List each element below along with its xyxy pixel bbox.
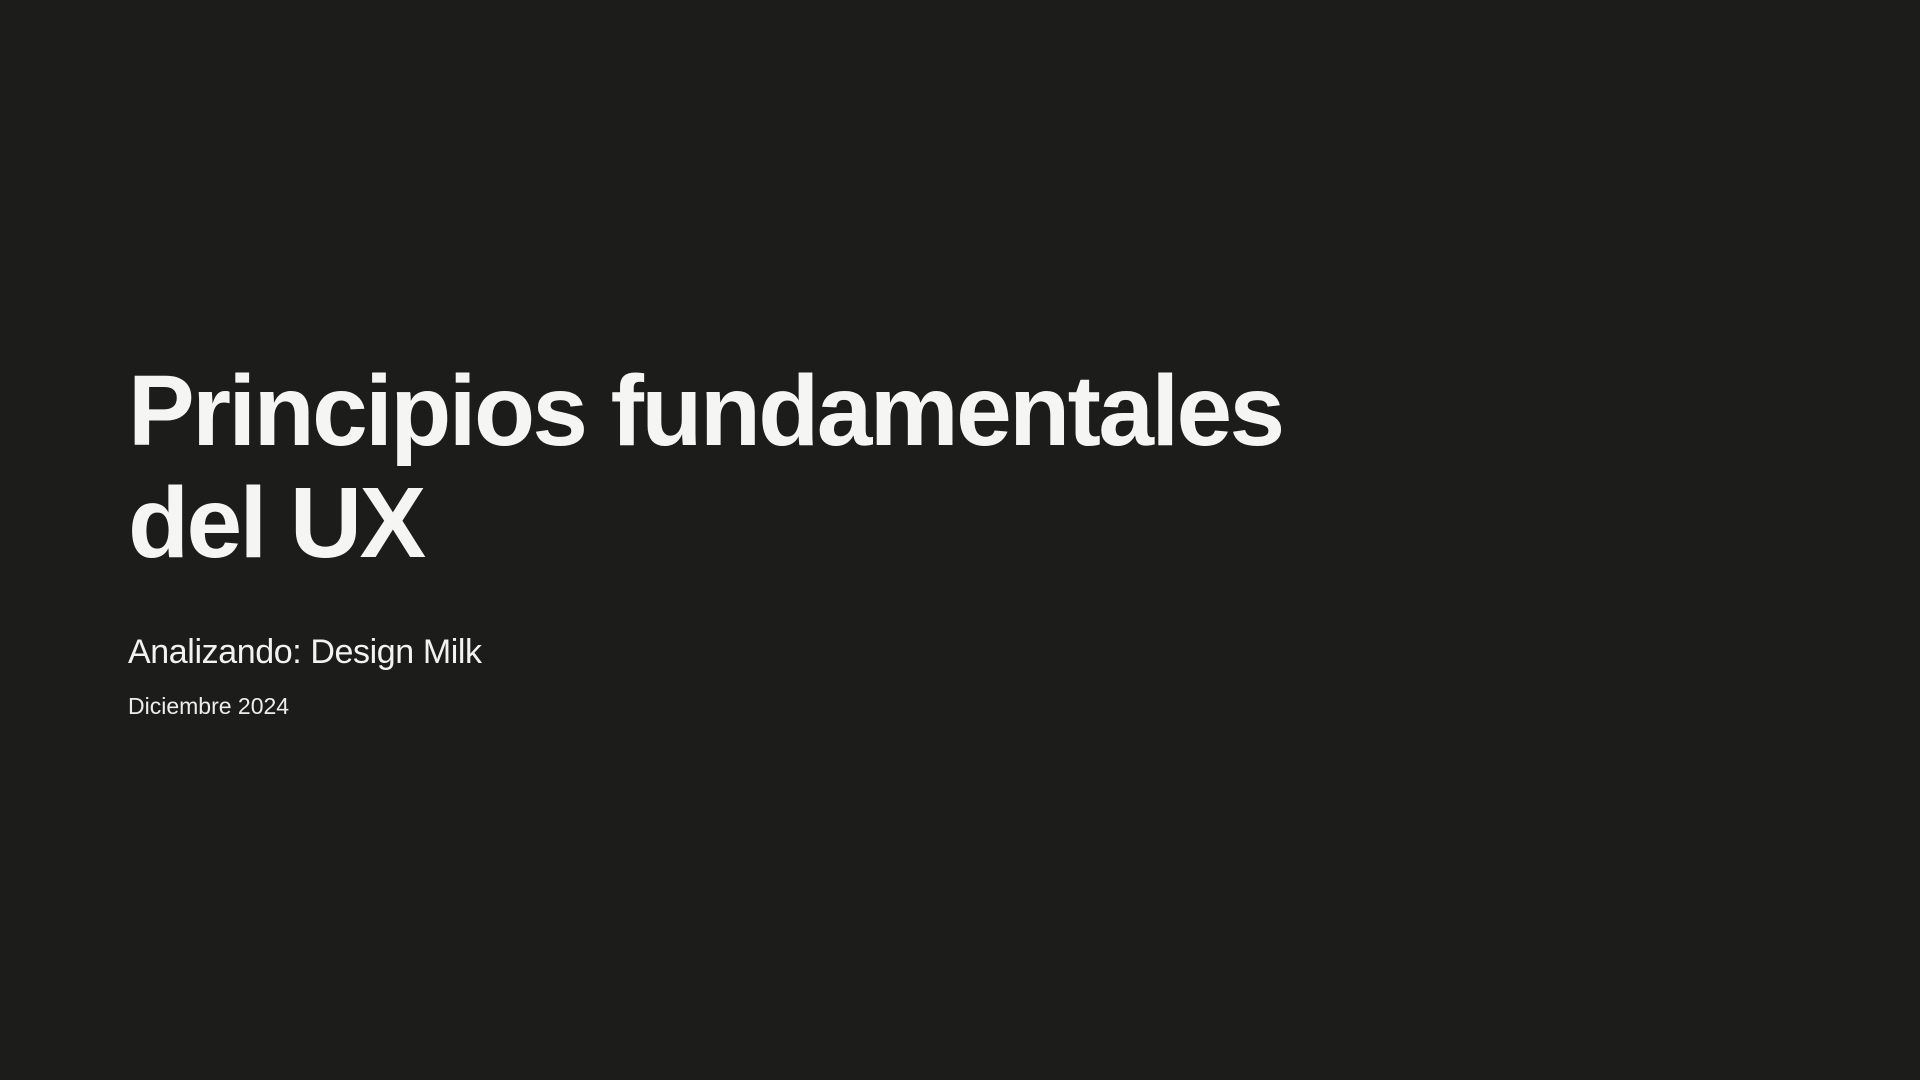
title-slide: Principios fundamentales del UX Analizan… xyxy=(0,0,1920,1080)
slide-date: Diciembre 2024 xyxy=(128,673,1378,721)
page-title: Principios fundamentales del UX xyxy=(128,355,1308,579)
title-block: Principios fundamentales del UX Analizan… xyxy=(128,355,1378,721)
slide-subtitle: Analizando: Design Milk xyxy=(128,579,1378,673)
